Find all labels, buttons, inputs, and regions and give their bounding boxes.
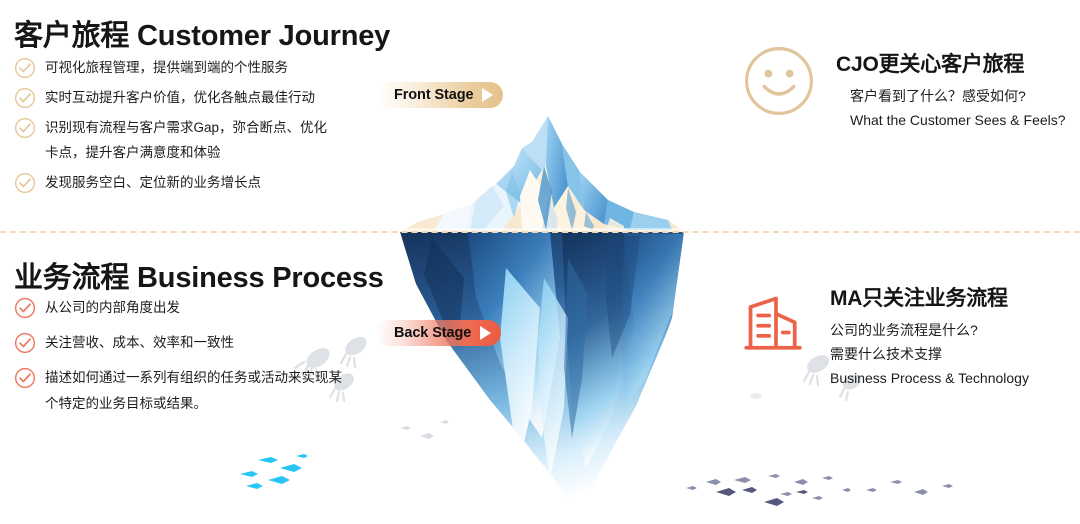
list-item: 关注营收、成本、效率和一致性 [14, 332, 374, 356]
list-item-label: 识别现有流程与客户需求Gap，弥合断点、优化卡点，提升客户满意度和体验 [45, 115, 340, 165]
list-item: 可视化旅程管理，提供端到端的个性服务 [14, 57, 374, 80]
list-item-label: 从公司的内部角度出发 [45, 295, 180, 321]
list-item-label: 发现服务空白、定位新的业务增长点 [45, 170, 261, 195]
dark-fish-school-right [860, 472, 980, 516]
list-item: 发现服务空白、定位新的业务增长点 [14, 172, 374, 195]
cjo-panel-line-1: 客户看到了什么？感受如何? [850, 84, 1066, 108]
page-title-customer-journey: 客户旅程 Customer Journey [14, 12, 390, 54]
list-item-label: 实时互动提升客户价值，优化各触点最佳行动 [45, 85, 315, 110]
infographic-slide: 客户旅程 Customer Journey 可视化旅程管理，提供端到端的个性服务… [0, 0, 1080, 524]
list-item: 描述如何通过一系列有组织的任务或活动来实现某个特定的业务目标或结果。 [14, 367, 374, 417]
page-title-business-process: 业务流程 Business Process [14, 254, 384, 296]
ma-panel-title: MA只关注业务流程 [830, 282, 1029, 312]
business-process-bullet-list: 从公司的内部角度出发 关注营收、成本、效率和一致性 描述如何通过一系列有组织的任… [14, 297, 374, 428]
dashed-waterline [0, 231, 1080, 233]
check-circle-icon [14, 57, 36, 79]
iceberg-illustration [372, 108, 712, 524]
front-stage-badge: Front Stage [376, 82, 503, 108]
office-building-icon [742, 290, 810, 358]
check-circle-icon [14, 172, 36, 194]
triangle-right-icon [480, 326, 491, 340]
smiley-face-icon [742, 44, 816, 118]
cjo-panel-line-2: What the Customer Sees & Feels? [850, 108, 1066, 132]
cyan-fish-school [232, 448, 342, 498]
back-stage-badge: Back Stage [376, 320, 501, 346]
ma-panel-line-3: Business Process & Technology [830, 366, 1029, 390]
ma-panel-line-1: 公司的业务流程是什么? [830, 318, 1029, 342]
list-item: 实时互动提升客户价值，优化各触点最佳行动 [14, 87, 374, 110]
cjo-panel: CJO更关心客户旅程 客户看到了什么？感受如何? What the Custom… [742, 44, 1066, 132]
list-item: 识别现有流程与客户需求Gap，弥合断点、优化卡点，提升客户满意度和体验 [14, 117, 374, 165]
list-item-label: 可视化旅程管理，提供端到端的个性服务 [45, 55, 288, 80]
check-circle-icon [14, 87, 36, 109]
ma-panel: MA只关注业务流程 公司的业务流程是什么? 需要什么技术支撑 Business … [742, 282, 1029, 390]
iceberg-underwater [400, 232, 684, 516]
ma-panel-line-2: 需要什么技术支撑 [830, 342, 1029, 366]
list-item-label: 关注营收、成本、效率和一致性 [45, 330, 234, 356]
list-item-label: 描述如何通过一系列有组织的任务或活动来实现某个特定的业务目标或结果。 [45, 365, 345, 417]
iceberg-above-water [400, 116, 684, 232]
check-circle-icon [14, 117, 36, 139]
triangle-right-icon [482, 88, 493, 102]
check-circle-icon [14, 332, 36, 354]
front-stage-label: Front Stage [394, 87, 473, 103]
check-circle-icon [14, 297, 36, 319]
cjo-panel-title: CJO更关心客户旅程 [836, 48, 1066, 78]
back-stage-label: Back Stage [394, 325, 471, 341]
check-circle-icon [14, 367, 36, 389]
list-item: 从公司的内部角度出发 [14, 297, 374, 321]
customer-journey-bullet-list: 可视化旅程管理，提供端到端的个性服务 实时互动提升客户价值，优化各触点最佳行动 … [14, 57, 374, 202]
